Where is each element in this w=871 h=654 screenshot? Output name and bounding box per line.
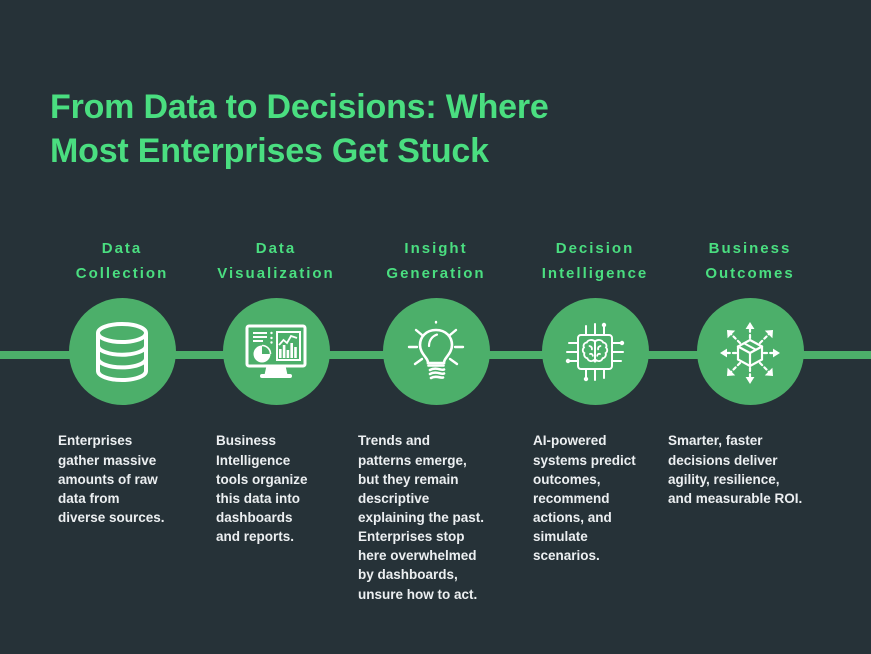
step-description: AI-powered systems predict outcomes, rec… xyxy=(533,431,669,565)
process-step-business-outcomes: Business Outcomes xyxy=(680,236,820,508)
lightbulb-icon xyxy=(404,320,468,384)
step-description: Trends and patterns emerge, but they rem… xyxy=(358,431,516,603)
process-steps: Data Collection Enterprises gather massi… xyxy=(0,0,871,654)
step-icon-circle xyxy=(383,298,490,405)
step-label: Insight Generation xyxy=(366,236,506,286)
dashboard-monitor-icon xyxy=(244,323,308,381)
step-label: Data Visualization xyxy=(206,236,346,286)
ai-chip-brain-icon xyxy=(564,321,626,383)
process-step-insight-generation: Insight Generation xyxy=(366,236,506,604)
step-description: Smarter, faster decisions deliver agilit… xyxy=(668,431,848,508)
step-label: Data Collection xyxy=(52,236,192,286)
process-step-decision-intelligence: Decision Intelligence xyxy=(525,236,665,565)
process-step-data-visualization: Data Visualization xyxy=(206,236,346,546)
process-step-data-collection: Data Collection Enterprises gather massi… xyxy=(52,236,192,527)
cube-distribution-icon xyxy=(716,318,784,386)
step-label: Business Outcomes xyxy=(680,236,820,286)
step-label: Decision Intelligence xyxy=(525,236,665,286)
step-description: Enterprises gather massive amounts of ra… xyxy=(58,431,194,527)
step-description: Business Intelligence tools organize thi… xyxy=(216,431,352,546)
step-icon-circle xyxy=(223,298,330,405)
step-icon-circle xyxy=(542,298,649,405)
step-icon-circle xyxy=(697,298,804,405)
database-icon xyxy=(94,321,150,383)
step-icon-circle xyxy=(69,298,176,405)
